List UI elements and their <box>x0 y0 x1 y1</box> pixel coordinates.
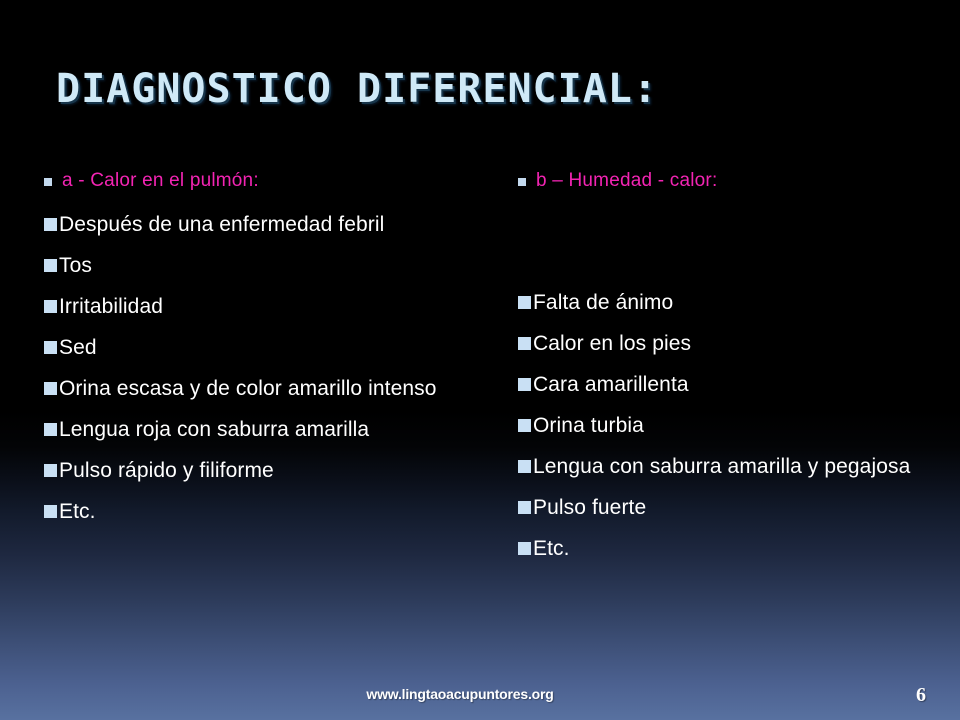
list-item-label: Etc. <box>533 534 570 563</box>
square-bullet-icon <box>518 542 531 555</box>
list-item: Orina turbia <box>518 411 948 440</box>
list-item-label: Falta de ánimo <box>533 288 673 317</box>
left-column-heading: a - Calor en el pulmón: <box>44 168 484 194</box>
square-bullet-icon <box>44 300 57 313</box>
list-item: Tos <box>44 251 484 280</box>
list-item-label: Orina escasa y de color amarillo intenso <box>59 374 437 403</box>
list-item-label: Sed <box>59 333 97 362</box>
list-item-label: Lengua con saburra amarilla y pegajosa <box>533 452 910 481</box>
list-item-label: Etc. <box>59 497 96 526</box>
list-item: Sed <box>44 333 484 362</box>
square-bullet-icon <box>44 423 57 436</box>
slide-canvas: DIAGNOSTICO DIFERENCIAL: a - Calor en el… <box>0 0 960 720</box>
list-item-label: Orina turbia <box>533 411 644 440</box>
list-item-label: Lengua roja con saburra amarilla <box>59 415 369 444</box>
list-item: Calor en los pies <box>518 329 948 358</box>
list-item: Pulso rápido y filiforme <box>44 456 484 485</box>
list-item: Después de una enfermedad febril <box>44 210 484 239</box>
left-heading-text: a - Calor en el pulmón: <box>62 168 259 194</box>
list-item: Cara amarillenta <box>518 370 948 399</box>
list-item: Etc. <box>518 534 948 563</box>
right-column: b – Humedad - calor: Falta de ánimo Calo… <box>518 168 948 575</box>
list-item: Irritabilidad <box>44 292 484 321</box>
list-item-label: Irritabilidad <box>59 292 163 321</box>
square-bullet-icon <box>44 464 57 477</box>
square-bullet-icon <box>518 501 531 514</box>
square-bullet-icon <box>44 218 57 231</box>
page-title: DIAGNOSTICO DIFERENCIAL: <box>56 66 658 112</box>
list-item: Falta de ánimo <box>518 288 948 317</box>
square-bullet-icon <box>44 341 57 354</box>
right-heading-text: b – Humedad - calor: <box>536 168 717 194</box>
list-item-label: Después de una enfermedad febril <box>59 210 384 239</box>
list-item-label: Tos <box>59 251 92 280</box>
list-item: Pulso fuerte <box>518 493 948 522</box>
list-item-label: Pulso fuerte <box>533 493 646 522</box>
square-bullet-icon <box>44 259 57 272</box>
list-item-label: Pulso rápido y filiforme <box>59 456 274 485</box>
right-column-heading: b – Humedad - calor: <box>518 168 948 194</box>
square-bullet-icon <box>44 178 52 186</box>
list-item-label: Cara amarillenta <box>533 370 689 399</box>
list-item-label: Calor en los pies <box>533 329 691 358</box>
square-bullet-icon <box>518 337 531 350</box>
footer-url[interactable]: www.lingtaoacupuntores.org <box>0 686 960 702</box>
left-column: a - Calor en el pulmón: Después de una e… <box>44 168 484 538</box>
square-bullet-icon <box>44 382 57 395</box>
list-item: Lengua con saburra amarilla y pegajosa <box>518 452 948 481</box>
square-bullet-icon <box>44 505 57 518</box>
list-item: Lengua roja con saburra amarilla <box>44 415 484 444</box>
square-bullet-icon <box>518 296 531 309</box>
square-bullet-icon <box>518 460 531 473</box>
square-bullet-icon <box>518 178 526 186</box>
square-bullet-icon <box>518 378 531 391</box>
page-number: 6 <box>916 684 926 707</box>
list-item: Etc. <box>44 497 484 526</box>
column-spacer <box>518 210 948 288</box>
list-item: Orina escasa y de color amarillo intenso <box>44 374 484 403</box>
square-bullet-icon <box>518 419 531 432</box>
